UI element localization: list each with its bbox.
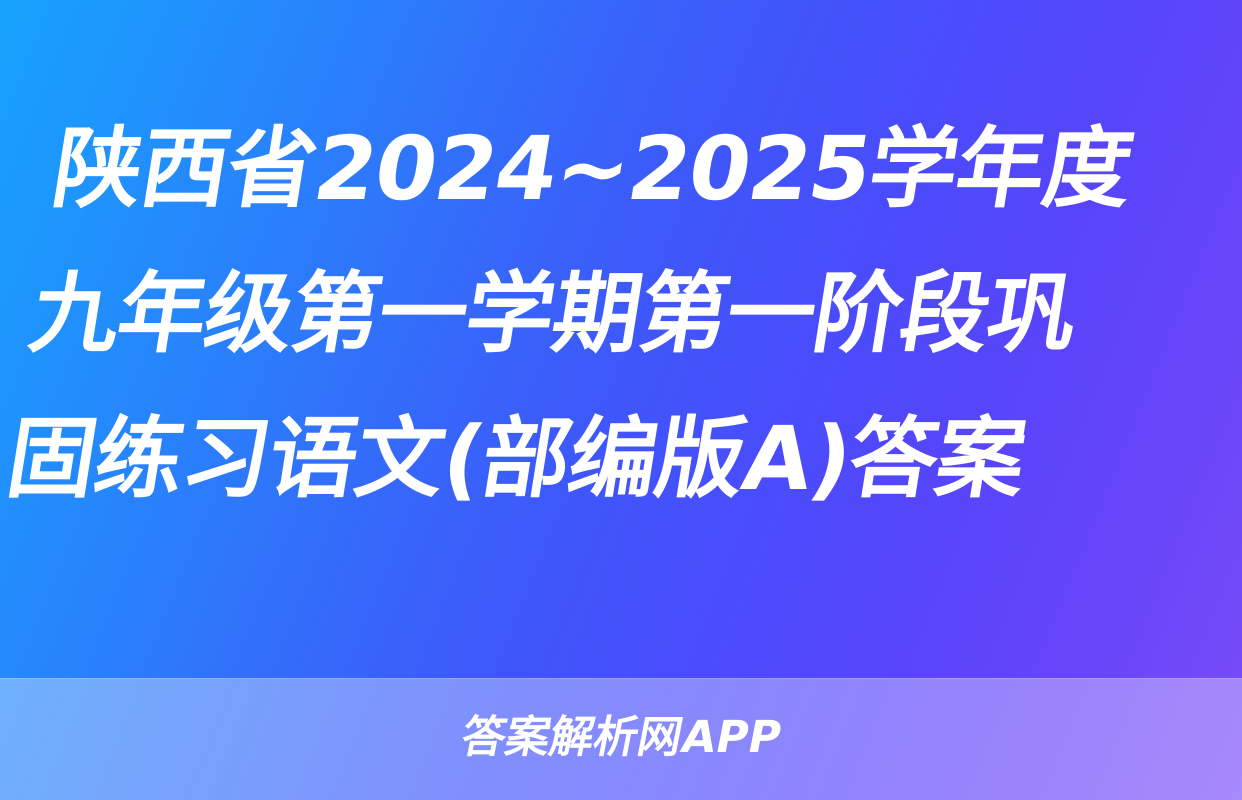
footer-watermark-band: 答案解析网APP xyxy=(0,678,1242,800)
page-title: 陕西省2024~2025学年度九年级第一学期第一阶段巩固练习语文(部编版A)答案 xyxy=(0,96,1184,531)
poster-canvas: 陕西省2024~2025学年度九年级第一学期第一阶段巩固练习语文(部编版A)答案… xyxy=(0,0,1242,800)
watermark-text: 答案解析网APP xyxy=(457,716,784,760)
band-top-divider xyxy=(0,678,1242,679)
poster-title-block: 陕西省2024~2025学年度九年级第一学期第一阶段巩固练习语文(部编版A)答案 xyxy=(66,96,1184,531)
